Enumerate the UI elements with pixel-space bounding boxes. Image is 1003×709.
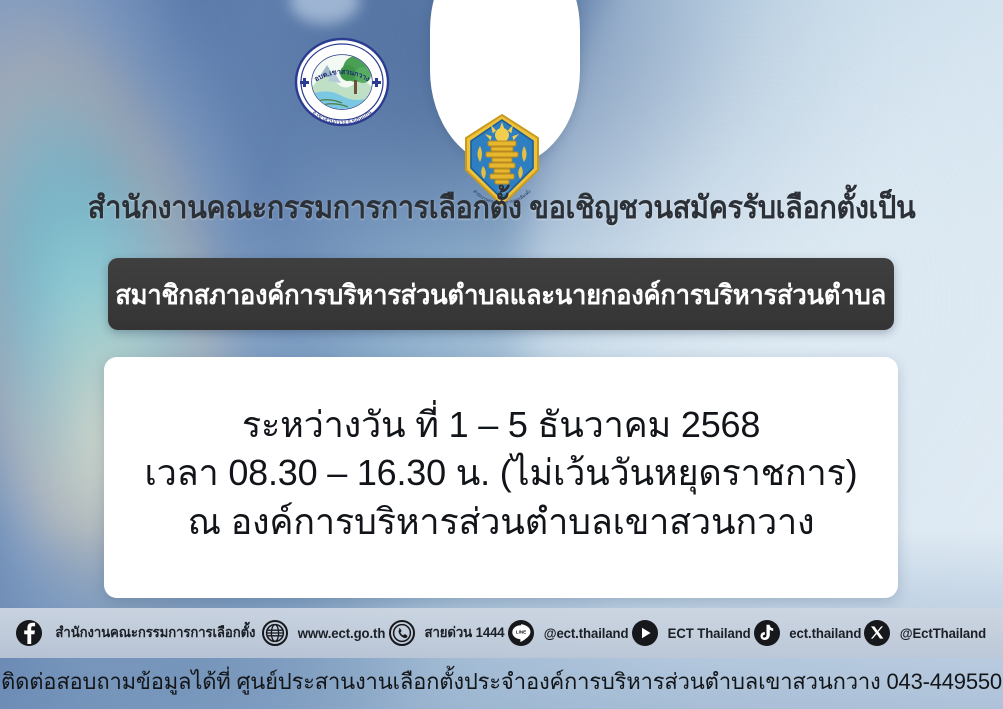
contact-info-line: ติดต่อสอบถามข้อมูลได้ที่ ศูนย์ประสานงานเ… [0,664,1003,699]
hotline-label: สายด่วน 1444 [425,622,505,644]
poster-root: สำนักงานคณะกรรมการการเลือกตั้ง [0,0,1003,709]
detail-line-venue: ณ องค์การบริหารส่วนตำบลเขาสวนกวาง [188,499,815,545]
facebook-label: สำนักงานคณะกรรมการการเลือกตั้ง [55,622,255,644]
headline-text: สำนักงานคณะกรรมการการเลือกตั้ง ขอเชิญชวน… [35,182,968,232]
x-label: @EctThailand [900,625,986,641]
youtube-label: ECT Thailand [668,625,751,641]
line-icon: LINE [508,620,534,646]
sao-seal-icon: อบต.เขาสวนกวาง อ.เขาสวนกวาง จ.ขอนแก่น [288,32,396,132]
social-item-website[interactable]: www.ect.go.th [262,620,388,646]
position-banner: สมาชิกสภาองค์การบริหารส่วนตำบลและนายกองค… [108,258,894,330]
globe-icon [262,620,288,646]
social-item-hotline[interactable]: สายด่วน 1444 [389,620,507,646]
tiktok-label: ect.thailand [789,625,861,641]
line-label: @ect.thailand [544,625,629,641]
social-media-bar: สำนักงานคณะกรรมการการเลือกตั้ง www.ect.g… [0,608,1003,658]
details-panel: ระหว่างวัน ที่ 1 – 5 ธันวาคม 2568 เวลา 0… [104,357,898,598]
social-item-tiktok[interactable]: ect.thailand [754,620,864,646]
detail-line-date: ระหว่างวัน ที่ 1 – 5 ธันวาคม 2568 [242,402,760,448]
social-item-line[interactable]: LINE @ect.thailand [508,620,631,646]
x-twitter-icon [864,620,890,646]
phone-icon [389,620,415,646]
website-label: www.ect.go.th [298,625,385,641]
social-item-facebook[interactable]: สำนักงานคณะกรรมการการเลือกตั้ง [16,620,262,646]
position-banner-text: สมาชิกสภาองค์การบริหารส่วนตำบลและนายกองค… [116,273,887,316]
facebook-icon [16,620,42,646]
social-item-youtube[interactable]: ECT Thailand [632,620,753,646]
svg-text:LINE: LINE [516,630,526,635]
youtube-icon [632,620,658,646]
social-item-x[interactable]: @EctThailand [864,620,989,646]
detail-line-time: เวลา 08.30 – 16.30 น. (ไม่เว้นวันหยุดราช… [145,450,858,496]
tiktok-icon [754,620,780,646]
